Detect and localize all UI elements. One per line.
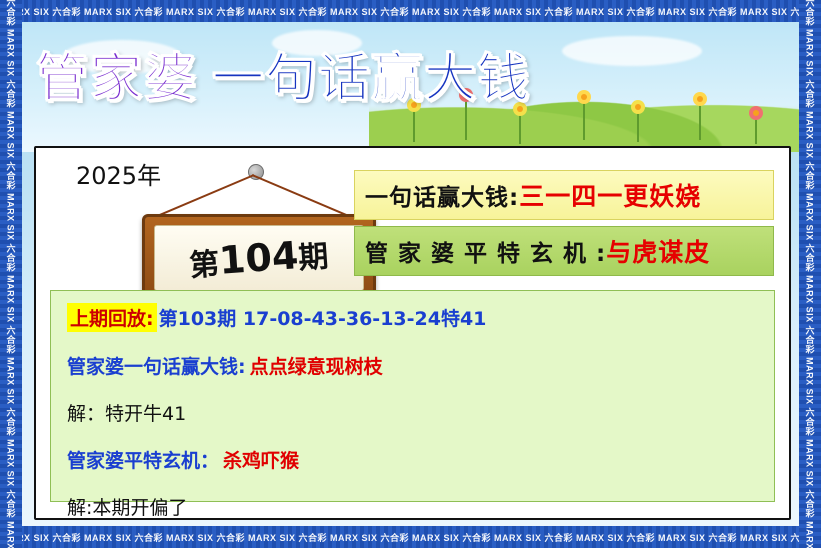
slogan-line: 管家婆一句话赢大钱: 点点绿意现树枝 xyxy=(67,352,758,379)
slogan-title: 一句话赢大钱 xyxy=(212,36,530,111)
border-band-right: MARX SIX 六合彩 MARX SIX 六合彩 MARX SIX 六合彩 M… xyxy=(799,0,821,548)
row-slogan: 一句话赢大钱: 三一四一更妖娆 xyxy=(354,170,774,220)
issue-number: 104 xyxy=(218,233,300,282)
brand-title: 管家婆 xyxy=(36,36,198,111)
content-panel: 上期回放: 第103期 17-08-43-36-13-24特41 管家婆一句话赢… xyxy=(50,290,775,502)
slogan-line-value: 点点绿意现树枝 xyxy=(250,352,383,379)
border-text-left: MARX SIX 六合彩 MARX SIX 六合彩 MARX SIX 六合彩 M… xyxy=(0,0,22,548)
answer-text-2: 解:本期开偏了 xyxy=(67,497,187,519)
slogan-line-label: 管家婆一句话赢大钱: xyxy=(67,352,246,379)
row-slogan-value: 三一四一更妖娆 xyxy=(519,177,701,213)
xuanji-line: 管家婆平特玄机： 杀鸡吓猴 xyxy=(67,446,758,473)
spacer xyxy=(67,338,758,352)
replay-label: 上期回放: xyxy=(67,303,157,332)
flower-icon xyxy=(749,106,763,120)
spacer xyxy=(67,432,758,446)
answer-text-1: 解：特开牛41 xyxy=(67,403,186,425)
answer-line-2: 解:本期开偏了 xyxy=(67,493,758,520)
issue-sign-inner: 第104期 xyxy=(154,225,364,291)
border-text-top: MARX SIX 六合彩 MARX SIX 六合彩 MARX SIX 六合彩 M… xyxy=(0,0,821,22)
spacer xyxy=(67,385,758,399)
border-text-right: MARX SIX 六合彩 MARX SIX 六合彩 MARX SIX 六合彩 M… xyxy=(799,0,821,548)
border-band-left: MARX SIX 六合彩 MARX SIX 六合彩 MARX SIX 六合彩 M… xyxy=(0,0,22,548)
issue-text: 第104期 xyxy=(188,231,330,285)
row-slogan-label: 一句话赢大钱: xyxy=(365,178,519,212)
issue-prefix: 第 xyxy=(189,247,221,284)
flower-icon xyxy=(631,100,645,114)
hanging-sign: 第104期 xyxy=(132,170,382,300)
flower-icon xyxy=(693,92,707,106)
xuanji-line-label: 管家婆平特玄机： xyxy=(67,446,219,473)
issue-sign: 第104期 xyxy=(142,214,376,302)
flower-icon xyxy=(577,90,591,104)
main-card: 2025年 第104期 一句话赢大钱: 三一四一更妖娆 管 家 婆 平 特 玄 … xyxy=(34,146,791,520)
replay-line: 上期回放: 第103期 17-08-43-36-13-24特41 xyxy=(67,303,758,332)
border-text-bottom: MARX SIX 六合彩 MARX SIX 六合彩 MARX SIX 六合彩 M… xyxy=(0,526,821,548)
answer-line-1: 解：特开牛41 xyxy=(67,399,758,426)
issue-suffix: 期 xyxy=(298,239,330,276)
border-band-top: MARX SIX 六合彩 MARX SIX 六合彩 MARX SIX 六合彩 M… xyxy=(0,0,821,22)
replay-value: 第103期 17-08-43-36-13-24特41 xyxy=(159,304,487,331)
page-title: 管家婆 一句话赢大钱 xyxy=(36,36,530,111)
spacer xyxy=(67,479,758,493)
border-band-bottom: MARX SIX 六合彩 MARX SIX 六合彩 MARX SIX 六合彩 M… xyxy=(0,526,821,548)
row-xuanji-value: 与虎谋皮 xyxy=(606,233,710,269)
xuanji-line-value: 杀鸡吓猴 xyxy=(223,446,299,473)
cloud-shape xyxy=(562,36,702,66)
row-xuanji: 管 家 婆 平 特 玄 机 : 与虎谋皮 xyxy=(354,226,774,276)
row-xuanji-label: 管 家 婆 平 特 玄 机 : xyxy=(365,234,606,268)
